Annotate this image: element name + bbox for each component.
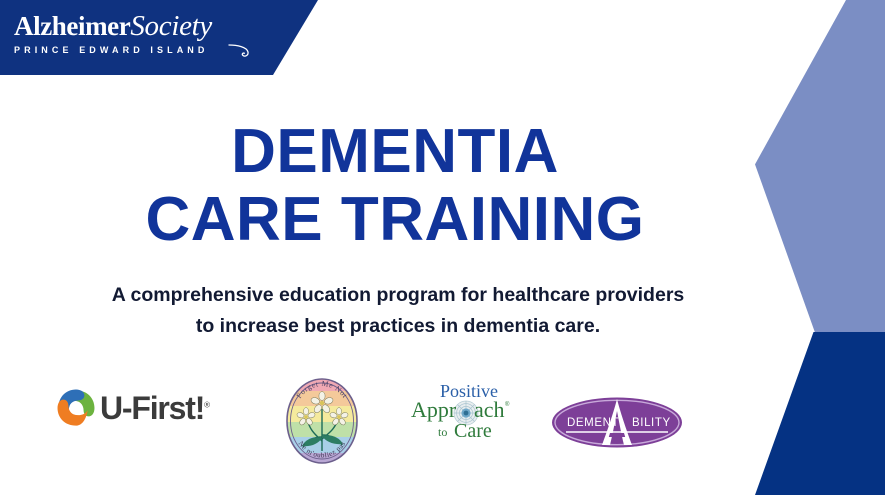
dementiability-word-2: BILITY (632, 417, 671, 429)
organization-name-alzheimer: Alzheimer (14, 11, 130, 41)
ufirst-trademark: ® (204, 400, 210, 409)
headline-line-1: DEMENTIA (0, 118, 790, 186)
dementiability-label-2: BILITY (684, 395, 685, 396)
pac-wordmark: Positive Appr ach ® to Care (408, 380, 512, 442)
pac-trademark: ® (505, 401, 510, 408)
ufirst-swirl-icon (55, 387, 97, 429)
dementiability-label-1: DEMENTI (684, 395, 685, 396)
pac-label-care: Care (512, 380, 513, 381)
partner-logo-dementiability: DEMENTI BILITY DEMENTI BILITY (550, 395, 684, 455)
ufirst-wordmark: U-First!® (100, 392, 210, 424)
organization-banner: AlzheimerSociety PRINCE EDWARD ISLAND (0, 0, 320, 75)
subtitle-line-1: A comprehensive education program for he… (28, 280, 768, 311)
pac-label-positive: Positive (512, 380, 513, 381)
headline: DEMENTIA CARE TRAINING (0, 118, 790, 254)
pac-word-approach-tail: ach (474, 397, 505, 422)
chevron-dark-decoration (755, 332, 885, 495)
subtitle: A comprehensive education program for he… (28, 280, 768, 342)
ufirst-wordmark-text: U-First! (100, 390, 204, 426)
organization-name: AlzheimerSociety (14, 12, 284, 41)
partner-logo-positive-approach-to-care: Positive Appr ach ® to Care Positive App… (408, 380, 512, 447)
partner-logo-u-first: U-First!® (55, 387, 210, 429)
pac-word-approach: Appr (411, 397, 457, 422)
pac-word-care: Care (454, 420, 492, 442)
slide-canvas: AlzheimerSociety PRINCE EDWARD ISLAND DE… (0, 0, 885, 495)
forget-me-not-badge-icon: Forget Me Not Ne m'oubliez pas (283, 375, 361, 467)
organization-name-society: Society (130, 10, 212, 42)
subtitle-line-2: to increase best practices in dementia c… (28, 311, 768, 342)
headline-line-2: CARE TRAINING (0, 186, 790, 254)
forget-me-not-bottom-label: Ne m'oubliez pas (361, 375, 362, 376)
pac-label-approach: Approach (512, 380, 513, 381)
swoosh-icon (228, 44, 250, 58)
pac-word-to: to (438, 425, 447, 439)
dementiability-ellipse-icon: DEMENTI BILITY (550, 395, 684, 450)
dementiability-word-1: DEMENTI (567, 417, 623, 429)
partner-logo-row: U-First!® (0, 375, 760, 470)
partner-logo-forget-me-not: Forget Me Not Ne m'oubliez pas Forget Me… (283, 375, 361, 472)
pac-label-to: to (512, 380, 513, 381)
forget-me-not-top-label: Forget Me Not (361, 375, 362, 376)
